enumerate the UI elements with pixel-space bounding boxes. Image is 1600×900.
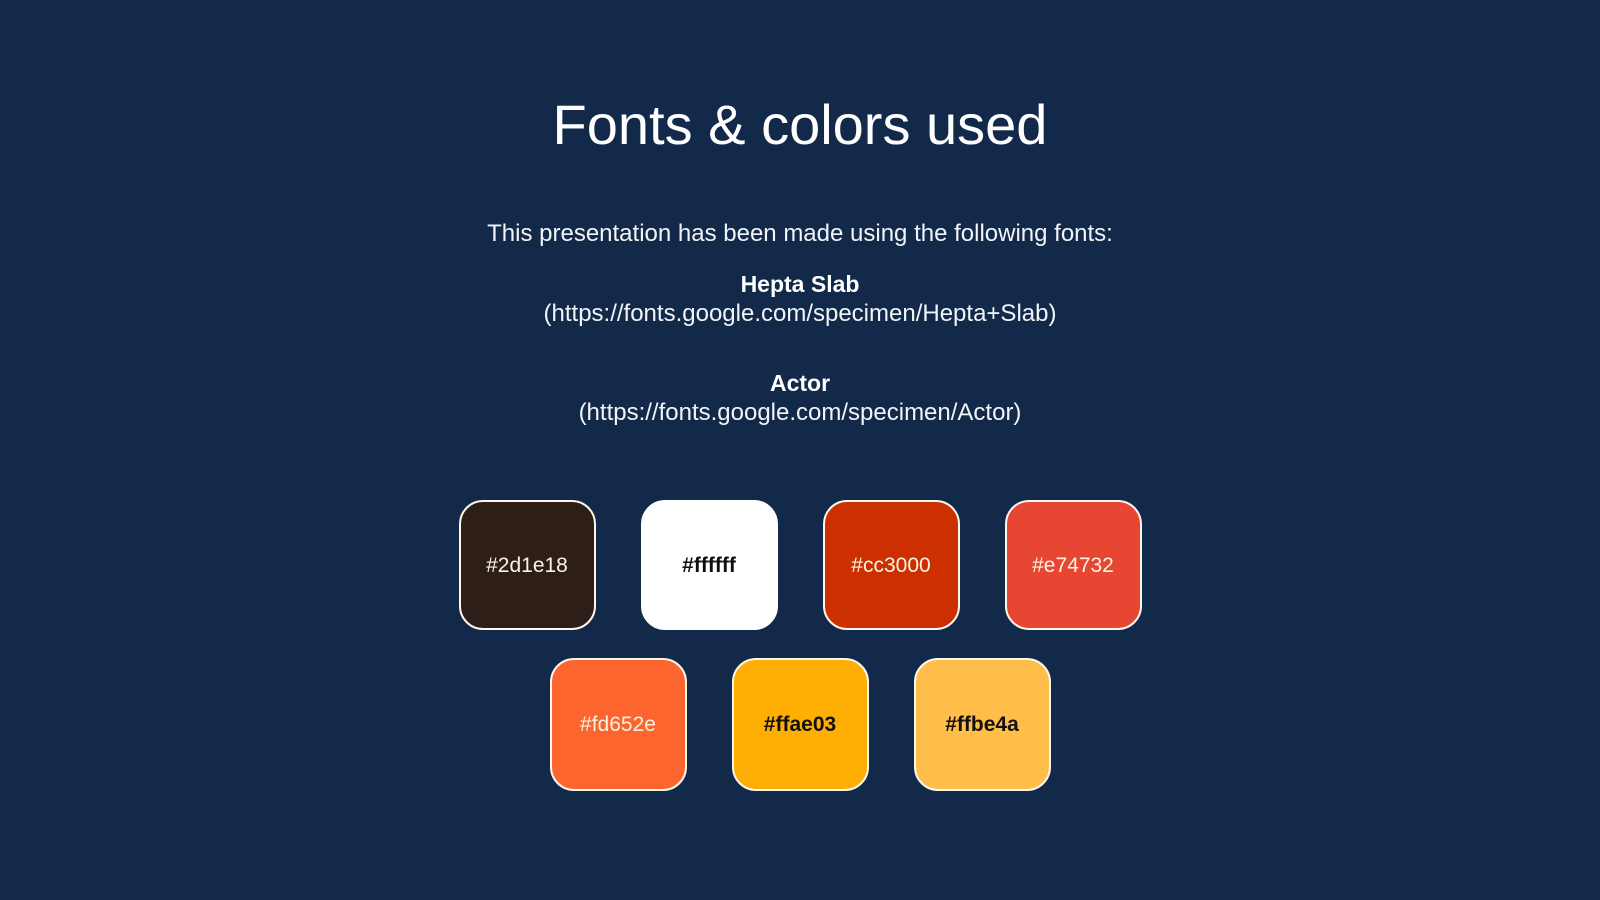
palette-row: #fd652e #ffae03 #ffbe4a [0, 658, 1600, 791]
palette-row: #2d1e18 #ffffff #cc3000 #e74732 [0, 500, 1600, 630]
color-swatch[interactable]: #ffffff [641, 500, 778, 630]
color-swatch[interactable]: #cc3000 [823, 500, 960, 630]
font-entry-hepta-slab: Hepta Slab (https://fonts.google.com/spe… [0, 269, 1600, 329]
fonts-intro-text: This presentation has been made using th… [0, 219, 1600, 249]
font-url[interactable]: (https://fonts.google.com/specimen/Actor… [0, 398, 1600, 428]
color-swatch[interactable]: #fd652e [550, 658, 687, 791]
color-swatch[interactable]: #e74732 [1005, 500, 1142, 630]
font-name: Actor [0, 368, 1600, 398]
fonts-section: This presentation has been made using th… [0, 219, 1600, 428]
font-url[interactable]: (https://fonts.google.com/specimen/Hepta… [0, 299, 1600, 329]
color-swatch[interactable]: #2d1e18 [459, 500, 596, 630]
slide-canvas: Fonts & colors used This presentation ha… [0, 0, 1600, 900]
color-swatch[interactable]: #ffae03 [732, 658, 869, 791]
font-entry-actor: Actor (https://fonts.google.com/specimen… [0, 368, 1600, 428]
font-name: Hepta Slab [0, 269, 1600, 299]
color-palette: #2d1e18 #ffffff #cc3000 #e74732 #fd652e … [0, 500, 1600, 791]
page-title: Fonts & colors used [0, 97, 1600, 153]
color-swatch[interactable]: #ffbe4a [914, 658, 1051, 791]
